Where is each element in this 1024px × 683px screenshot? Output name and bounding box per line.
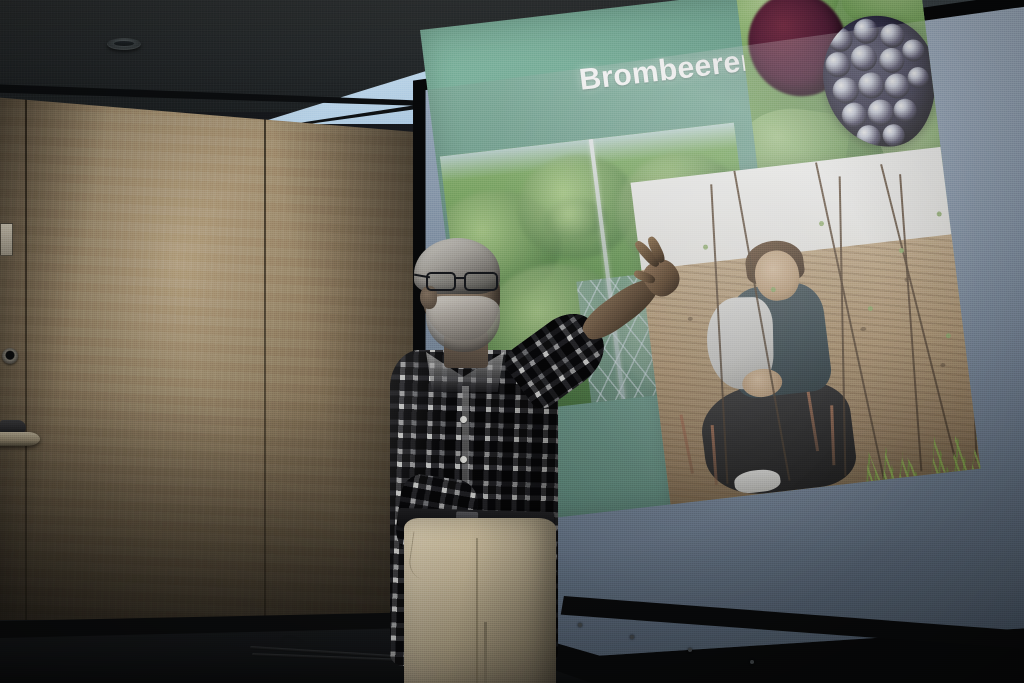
glasses-icon [426,272,502,292]
trouser-leg-split [484,622,487,683]
trouser-seam [476,538,478,683]
presenter-trousers [404,518,556,683]
frame-rivet [688,648,692,652]
wall-outlet-icon [2,348,18,364]
glasses-bridge [456,277,465,279]
photo-scene: Brombeeren [0,0,1024,683]
wall-shading [0,86,420,666]
wall-panel-seam [25,86,27,666]
wall-shelf [0,432,40,446]
wood-wall [0,86,420,666]
presenter [370,210,670,683]
trouser-pocket [407,531,453,582]
wall-panel-seam [264,86,266,666]
smoke-detector-icon [107,38,141,50]
slide-title: Brombeeren [577,43,761,98]
slide-photo-planting-woman [631,145,981,510]
shirt-button [460,456,467,463]
shirt-button [460,416,467,423]
glasses-lens [426,272,456,291]
wall-sign [0,223,13,256]
presenter-raised-arm [503,269,667,410]
frame-rivet [750,660,754,664]
glasses-lens [464,272,498,291]
presenter-beard [426,296,500,352]
